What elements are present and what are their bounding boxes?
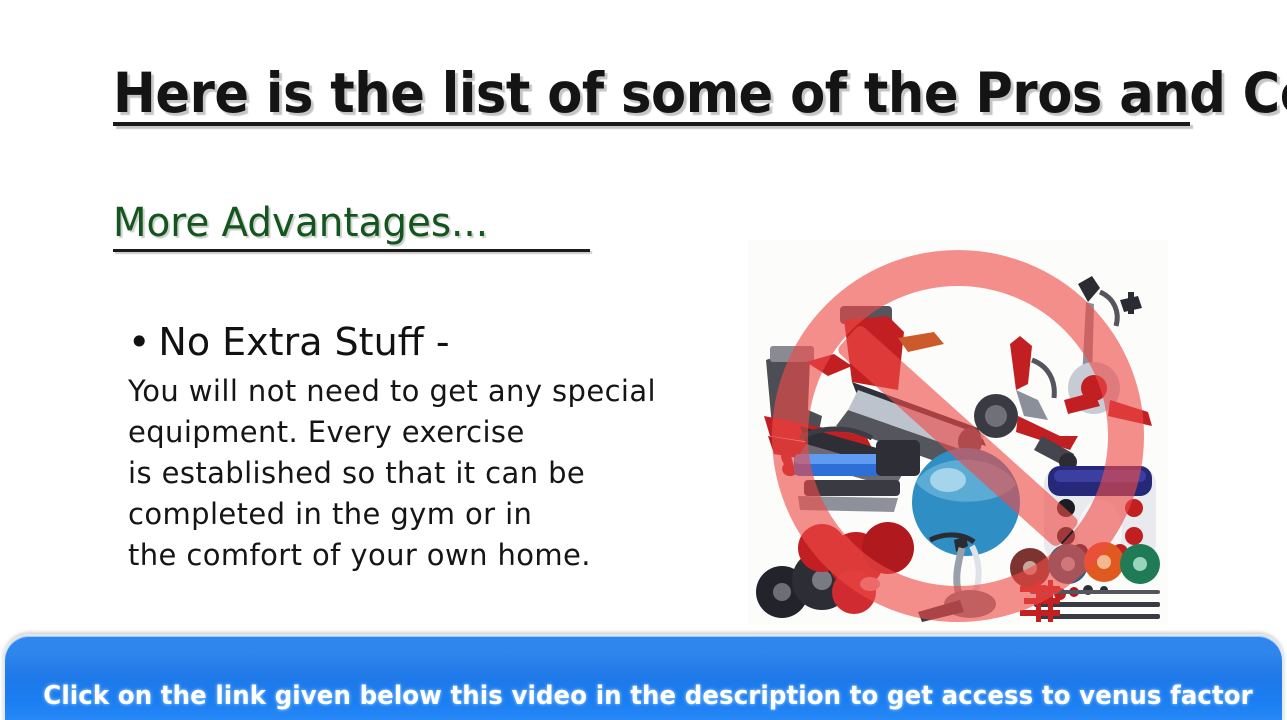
slide-canvas: Here is the list of some of the Pros and… <box>0 0 1287 720</box>
bullet-heading-text: No Extra Stuff - <box>158 320 449 364</box>
cta-banner-text: Click on the link given below this video… <box>43 681 1243 711</box>
body-line: You will not need to get any special <box>128 371 768 412</box>
section-heading-text: More Advantages... <box>113 203 695 243</box>
body-line: completed in the gym or in <box>128 494 768 535</box>
body-line: is established so that it can be <box>128 453 768 494</box>
body-line: equipment. Every exercise <box>128 412 768 453</box>
bullet-heading: •No Extra Stuff - <box>128 322 768 363</box>
body-line: the comfort of your own home. <box>128 535 768 576</box>
no-gym-equipment-image <box>748 240 1168 625</box>
page-title-text: Here is the list of some of the Pros and… <box>113 66 1117 121</box>
body-copy: •No Extra Stuff - You will not need to g… <box>128 322 768 576</box>
page-title: Here is the list of some of the Pros and… <box>113 66 1193 121</box>
bullet-dot-icon: • <box>128 322 150 363</box>
section-heading-underline <box>113 249 590 252</box>
cta-banner[interactable]: Click on the link given below this video… <box>3 634 1284 720</box>
no-gym-equipment-illustration <box>748 240 1168 625</box>
section-heading: More Advantages... <box>113 203 713 243</box>
page-title-underline <box>113 122 1190 126</box>
